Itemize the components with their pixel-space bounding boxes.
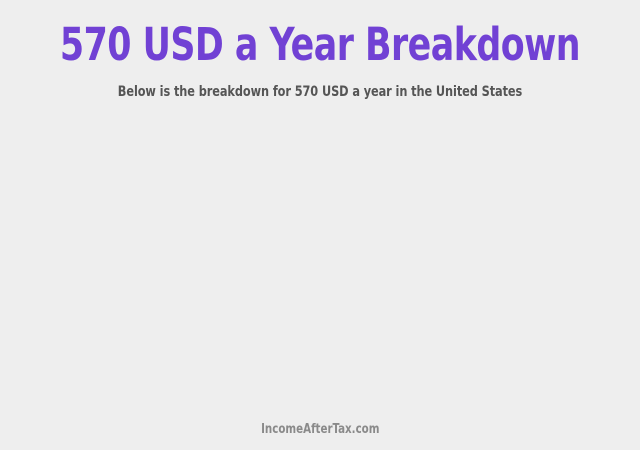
site-credit: IncomeAfterTax.com (261, 421, 379, 438)
chart-canvas (0, 112, 640, 408)
chart-region: Chart area is blank in the screenshot; n… (0, 112, 640, 408)
breakdown-page: 570 USD a Year Breakdown Below is the br… (0, 0, 640, 450)
page-footer: IncomeAfterTax.com (0, 418, 640, 438)
page-subtitle: Below is the breakdown for 570 USD a yea… (32, 83, 608, 101)
page-title: 570 USD a Year Breakdown (45, 20, 595, 70)
